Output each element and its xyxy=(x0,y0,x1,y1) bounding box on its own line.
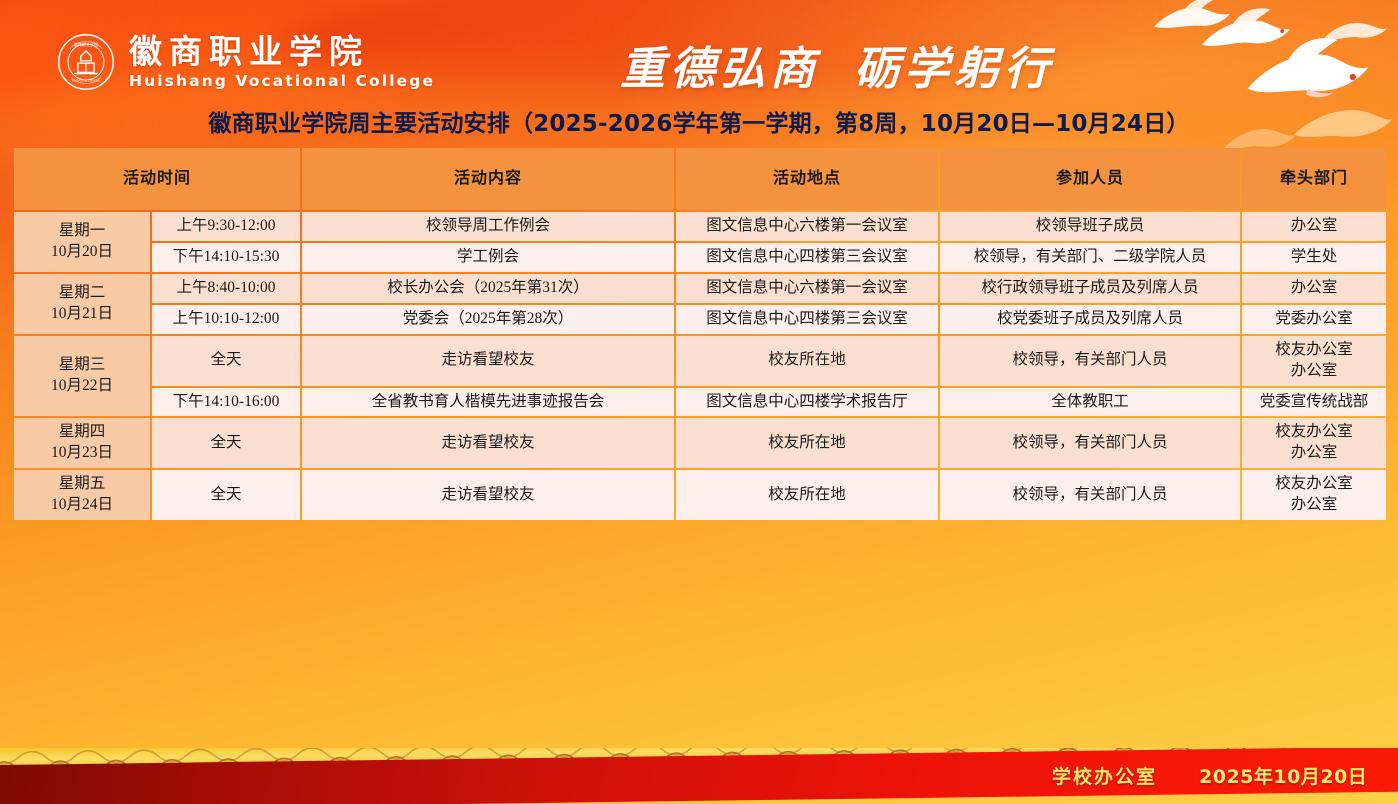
cell-department: 办公室 xyxy=(1242,274,1386,303)
cell-department-line: 学生处 xyxy=(1245,247,1383,268)
cell-day: 星期一10月20日 xyxy=(14,212,150,272)
cell-content-line: 学工例会 xyxy=(305,247,671,268)
cell-participants: 校领导，有关部门人员 xyxy=(940,470,1240,520)
cell-participants-line: 校领导班子成员 xyxy=(943,216,1237,237)
cell-location-line: 图文信息中心四楼第三会议室 xyxy=(679,247,935,268)
cell-location-line: 图文信息中心四楼第三会议室 xyxy=(679,309,935,330)
day-date: 10月23日 xyxy=(17,443,147,464)
cell-day: 星期三10月22日 xyxy=(14,336,150,417)
cell-department-line: 党委宣传统战部 xyxy=(1245,392,1383,413)
table-row: 星期四10月23日全天走访看望校友校友所在地校领导，有关部门人员校友办公室办公室 xyxy=(14,418,1386,468)
cell-department-line: 办公室 xyxy=(1245,495,1383,516)
cell-department-line: 办公室 xyxy=(1245,216,1383,237)
cell-participants: 校行政领导班子成员及列席人员 xyxy=(940,274,1240,303)
table-row: 星期五10月24日全天走访看望校友校友所在地校领导，有关部门人员校友办公室办公室 xyxy=(14,470,1386,520)
cell-department: 学生处 xyxy=(1242,243,1386,272)
college-slogan: 重德弘商砺学躬行 xyxy=(620,32,1220,97)
cell-content: 校领导周工作例会 xyxy=(302,212,674,241)
table-row: 上午10:10-12:00党委会（2025年第28次）图文信息中心四楼第三会议室… xyxy=(14,305,1386,334)
cell-time: 全天 xyxy=(152,418,300,468)
cell-day: 星期二10月21日 xyxy=(14,274,150,334)
day-name: 星期三 xyxy=(17,355,147,376)
cell-location: 校友所在地 xyxy=(676,418,938,468)
college-name-cn: 徽商职业学院 xyxy=(129,35,435,68)
column-header-participants: 参加人员 xyxy=(940,148,1240,210)
college-seal-icon: 徽商职业学院 Huishang College xyxy=(57,33,115,91)
cell-location: 图文信息中心六楼第一会议室 xyxy=(676,212,938,241)
cell-department-line: 办公室 xyxy=(1245,443,1383,464)
cell-participants: 校领导，有关部门、二级学院人员 xyxy=(940,243,1240,272)
cell-participants: 校党委班子成员及列席人员 xyxy=(940,305,1240,334)
svg-text:Huishang College: Huishang College xyxy=(72,79,99,83)
cell-time-line: 下午14:10-15:30 xyxy=(155,247,297,268)
cell-time-line: 全天 xyxy=(155,485,297,506)
cell-location: 图文信息中心六楼第一会议室 xyxy=(676,274,938,303)
cell-location-line: 图文信息中心六楼第一会议室 xyxy=(679,216,935,237)
cell-content-line: 走访看望校友 xyxy=(305,485,671,506)
cell-day: 星期四10月23日 xyxy=(14,418,150,468)
cell-content-line: 党委会（2025年第28次） xyxy=(305,309,671,330)
college-name-en: Huishang Vocational College xyxy=(129,74,435,90)
day-date: 10月21日 xyxy=(17,304,147,325)
day-name: 星期二 xyxy=(17,283,147,304)
cell-time: 全天 xyxy=(152,470,300,520)
footer-signature: 学校办公室 2025年10月20日 xyxy=(1052,762,1374,789)
cell-department-line: 校友办公室 xyxy=(1245,422,1383,443)
cell-content: 全省教书育人楷模先进事迹报告会 xyxy=(302,388,674,417)
cell-content-line: 全省教书育人楷模先进事迹报告会 xyxy=(305,392,671,413)
cell-location: 校友所在地 xyxy=(676,470,938,520)
cell-content: 校长办公会（2025年第31次） xyxy=(302,274,674,303)
table-row: 下午14:10-15:30学工例会图文信息中心四楼第三会议室校领导，有关部门、二… xyxy=(14,243,1386,272)
schedule-table-container: 活动时间 活动内容 活动地点 参加人员 牵头部门 星期一10月20日上午9:30… xyxy=(12,146,1384,522)
cell-time: 下午14:10-15:30 xyxy=(152,243,300,272)
cell-participants-line: 校党委班子成员及列席人员 xyxy=(943,309,1237,330)
cell-participants-line: 全体教职工 xyxy=(943,392,1237,413)
table-row: 下午14:10-16:00全省教书育人楷模先进事迹报告会图文信息中心四楼学术报告… xyxy=(14,388,1386,417)
cell-time: 全天 xyxy=(152,336,300,386)
cell-content-line: 走访看望校友 xyxy=(305,350,671,371)
cell-content: 走访看望校友 xyxy=(302,418,674,468)
cell-department: 党委办公室 xyxy=(1242,305,1386,334)
cell-day: 星期五10月24日 xyxy=(14,470,150,520)
table-row: 星期三10月22日全天走访看望校友校友所在地校领导，有关部门人员校友办公室办公室 xyxy=(14,336,1386,386)
cell-department-line: 党委办公室 xyxy=(1245,309,1383,330)
day-date: 10月20日 xyxy=(17,242,147,263)
cell-time-line: 全天 xyxy=(155,350,297,371)
poster-header: 徽商职业学院 Huishang College 徽商职业学院 Huishang … xyxy=(0,0,1398,100)
college-logo: 徽商职业学院 Huishang College 徽商职业学院 Huishang … xyxy=(57,33,435,91)
college-name-block: 徽商职业学院 Huishang Vocational College xyxy=(129,35,435,90)
footer-date: 2025年10月20日 xyxy=(1199,762,1374,789)
cell-time-line: 上午9:30-12:00 xyxy=(155,216,297,237)
cell-location-line: 校友所在地 xyxy=(679,350,935,371)
cell-department-line: 校友办公室 xyxy=(1245,340,1383,361)
cell-participants: 校领导，有关部门人员 xyxy=(940,418,1240,468)
cell-department: 党委宣传统战部 xyxy=(1242,388,1386,417)
cell-participants: 全体教职工 xyxy=(940,388,1240,417)
column-header-location: 活动地点 xyxy=(676,148,938,210)
cell-participants-line: 校行政领导班子成员及列席人员 xyxy=(943,278,1237,299)
day-date: 10月24日 xyxy=(17,495,147,516)
cell-location: 图文信息中心四楼第三会议室 xyxy=(676,305,938,334)
page-title: 徽商职业学院周主要活动安排（2025-2026学年第一学期，第8周，10月20日… xyxy=(0,104,1398,138)
cell-department: 校友办公室办公室 xyxy=(1242,418,1386,468)
cell-location-line: 校友所在地 xyxy=(679,485,935,506)
weekly-schedule-table: 活动时间 活动内容 活动地点 参加人员 牵头部门 星期一10月20日上午9:30… xyxy=(12,146,1388,522)
cell-content-line: 校领导周工作例会 xyxy=(305,216,671,237)
cell-location: 校友所在地 xyxy=(676,336,938,386)
cell-department-line: 办公室 xyxy=(1245,278,1383,299)
cell-department: 校友办公室办公室 xyxy=(1242,336,1386,386)
cell-participants-line: 校领导，有关部门人员 xyxy=(943,350,1237,371)
cell-content: 走访看望校友 xyxy=(302,336,674,386)
schedule-table-body: 星期一10月20日上午9:30-12:00校领导周工作例会图文信息中心六楼第一会… xyxy=(14,212,1386,520)
cell-time-line: 上午10:10-12:00 xyxy=(155,309,297,330)
cell-content: 走访看望校友 xyxy=(302,470,674,520)
table-row: 星期二10月21日上午8:40-10:00校长办公会（2025年第31次）图文信… xyxy=(14,274,1386,303)
day-date: 10月22日 xyxy=(17,376,147,397)
cell-participants-line: 校领导，有关部门人员 xyxy=(943,485,1237,506)
cell-content-line: 校长办公会（2025年第31次） xyxy=(305,278,671,299)
cell-time-line: 全天 xyxy=(155,433,297,454)
cell-participants: 校领导班子成员 xyxy=(940,212,1240,241)
cell-content: 党委会（2025年第28次） xyxy=(302,305,674,334)
table-row: 星期一10月20日上午9:30-12:00校领导周工作例会图文信息中心六楼第一会… xyxy=(14,212,1386,241)
cell-location: 图文信息中心四楼学术报告厅 xyxy=(676,388,938,417)
poster-canvas: 徽商职业学院 Huishang College 徽商职业学院 Huishang … xyxy=(0,0,1398,804)
slogan-part-1: 重德弘商 xyxy=(620,42,820,95)
day-name: 星期四 xyxy=(17,422,147,443)
svg-text:徽商职业学院: 徽商职业学院 xyxy=(74,41,98,47)
cell-department-line: 办公室 xyxy=(1245,361,1383,382)
cell-department: 办公室 xyxy=(1242,212,1386,241)
day-name: 星期一 xyxy=(17,221,147,242)
slogan-part-2: 砺学躬行 xyxy=(854,42,1054,95)
cell-location-line: 校友所在地 xyxy=(679,433,935,454)
footer-office-name: 学校办公室 xyxy=(1052,762,1157,789)
cell-time: 下午14:10-16:00 xyxy=(152,388,300,417)
poster-footer: 学校办公室 2025年10月20日 xyxy=(0,748,1398,804)
cell-time: 上午8:40-10:00 xyxy=(152,274,300,303)
cell-location-line: 图文信息中心四楼学术报告厅 xyxy=(679,392,935,413)
cell-location-line: 图文信息中心六楼第一会议室 xyxy=(679,278,935,299)
cell-content: 学工例会 xyxy=(302,243,674,272)
table-header-row: 活动时间 活动内容 活动地点 参加人员 牵头部门 xyxy=(14,148,1386,210)
cell-time-line: 下午14:10-16:00 xyxy=(155,392,297,413)
column-header-department: 牵头部门 xyxy=(1242,148,1386,210)
column-header-content: 活动内容 xyxy=(302,148,674,210)
cell-time: 上午10:10-12:00 xyxy=(152,305,300,334)
cell-time: 上午9:30-12:00 xyxy=(152,212,300,241)
cell-time-line: 上午8:40-10:00 xyxy=(155,278,297,299)
cell-content-line: 走访看望校友 xyxy=(305,433,671,454)
cell-participants-line: 校领导，有关部门人员 xyxy=(943,433,1237,454)
cell-participants: 校领导，有关部门人员 xyxy=(940,336,1240,386)
day-name: 星期五 xyxy=(17,474,147,495)
cell-department: 校友办公室办公室 xyxy=(1242,470,1386,520)
column-header-time: 活动时间 xyxy=(14,148,300,210)
cell-department-line: 校友办公室 xyxy=(1245,474,1383,495)
cell-location: 图文信息中心四楼第三会议室 xyxy=(676,243,938,272)
cell-participants-line: 校领导，有关部门、二级学院人员 xyxy=(943,247,1237,268)
